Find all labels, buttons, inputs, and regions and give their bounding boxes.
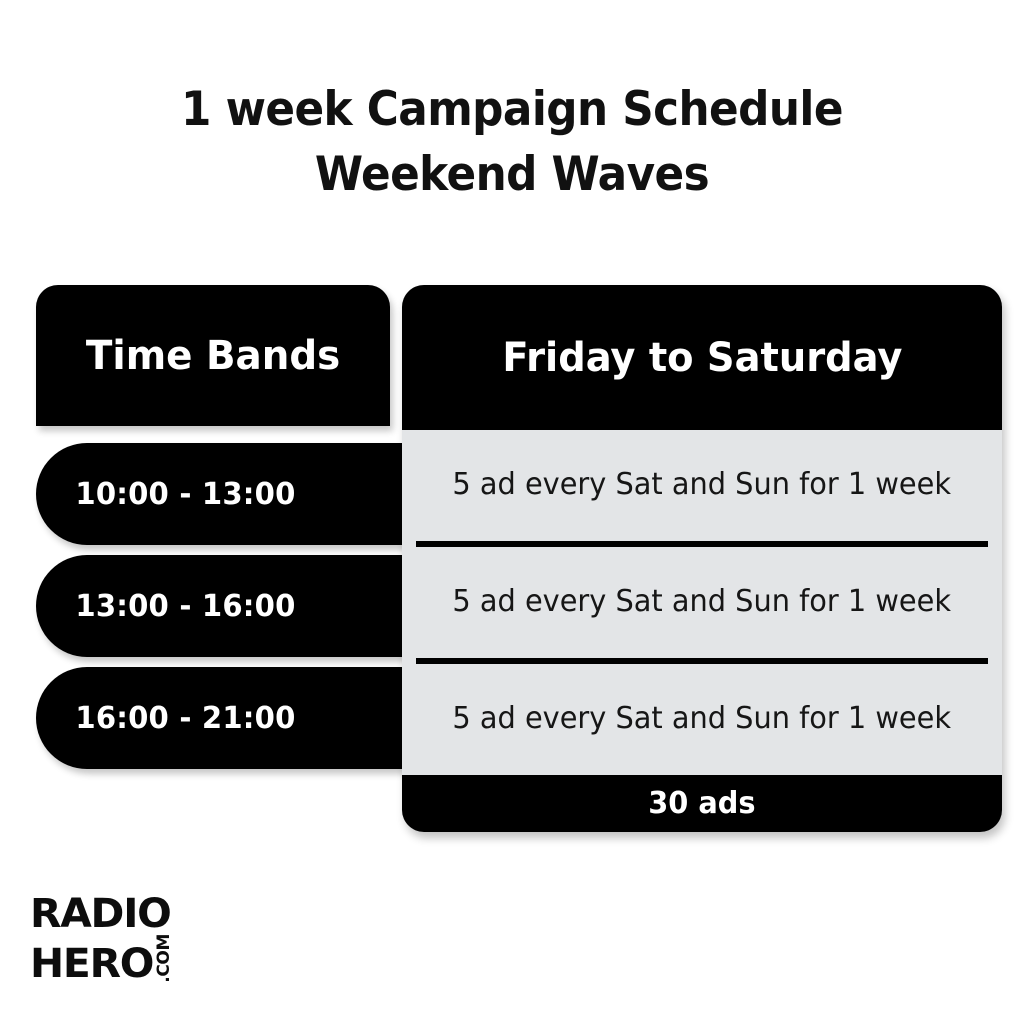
total-ads-footer: 30 ads bbox=[402, 775, 1002, 832]
time-band-row[interactable]: 16:00 - 21:00 bbox=[36, 667, 404, 769]
day-column-header-label: Friday to Saturday bbox=[502, 335, 902, 381]
logo-tld-com: .COM bbox=[156, 934, 173, 983]
time-band-label: 13:00 - 16:00 bbox=[75, 589, 295, 624]
page-title: 1 week Campaign Schedule Weekend Waves bbox=[0, 78, 1024, 208]
logo-row-hero: HERO .COM bbox=[30, 934, 260, 984]
title-line-1: 1 week Campaign Schedule bbox=[36, 78, 988, 143]
schedule-cells: 5 ad every Sat and Sun for 1 week 5 ad e… bbox=[402, 430, 1002, 775]
time-bands-header: Time Bands bbox=[36, 285, 390, 426]
schedule-cell-text: 5 ad every Sat and Sun for 1 week bbox=[428, 464, 977, 507]
time-band-label: 10:00 - 13:00 bbox=[75, 477, 295, 512]
title-line-2: Weekend Waves bbox=[36, 143, 988, 208]
time-bands-header-label: Time Bands bbox=[86, 333, 340, 379]
day-column-panel: Friday to Saturday 5 ad every Sat and Su… bbox=[402, 285, 1002, 832]
logo-line-radio: RADIO bbox=[30, 895, 265, 934]
total-ads-label: 30 ads bbox=[648, 786, 755, 821]
time-band-label: 16:00 - 21:00 bbox=[75, 701, 295, 736]
schedule-cell[interactable]: 5 ad every Sat and Sun for 1 week bbox=[402, 430, 1002, 541]
radiohero-logo[interactable]: RADIO HERO .COM bbox=[30, 895, 260, 995]
schedule-cell-text: 5 ad every Sat and Sun for 1 week bbox=[428, 581, 977, 624]
time-band-row[interactable]: 10:00 - 13:00 bbox=[36, 443, 404, 545]
schedule-cell[interactable]: 5 ad every Sat and Sun for 1 week bbox=[402, 547, 1002, 658]
day-column-header: Friday to Saturday bbox=[402, 285, 1002, 430]
schedule-cell-text: 5 ad every Sat and Sun for 1 week bbox=[428, 698, 977, 741]
logo-line-hero: HERO bbox=[30, 945, 153, 984]
time-band-row[interactable]: 13:00 - 16:00 bbox=[36, 555, 404, 657]
schedule-cell[interactable]: 5 ad every Sat and Sun for 1 week bbox=[402, 664, 1002, 775]
